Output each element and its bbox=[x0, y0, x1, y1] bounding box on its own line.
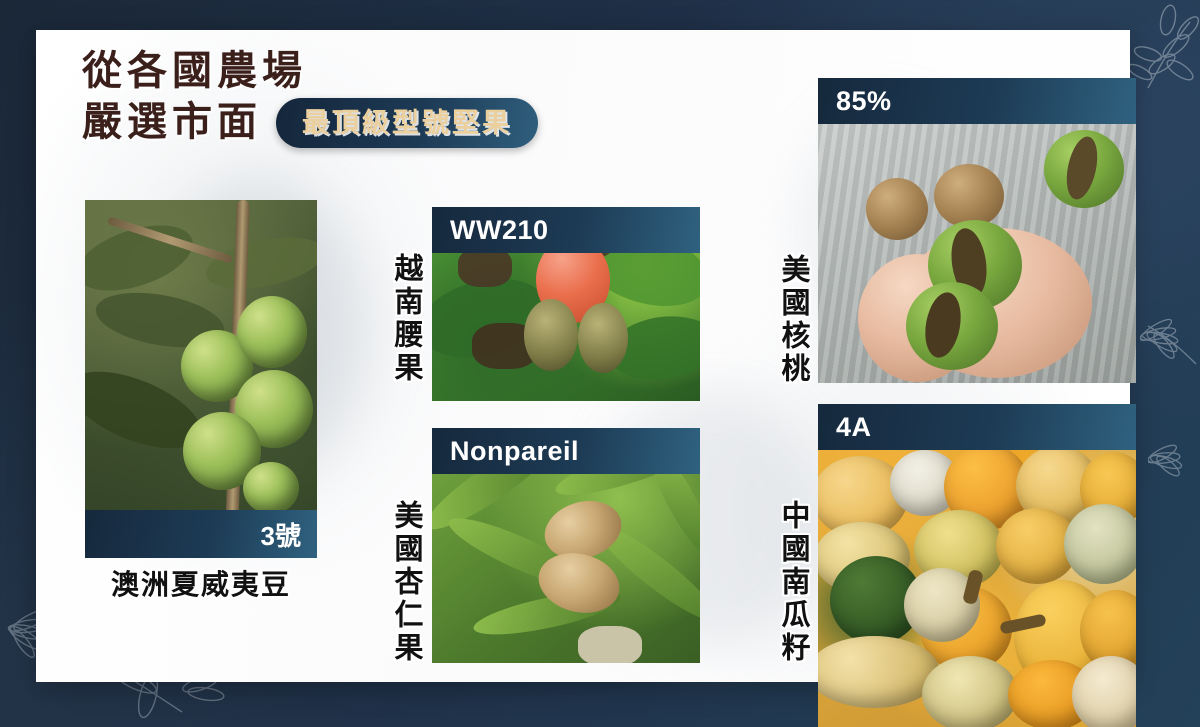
card-walnut-grade: 85% bbox=[836, 86, 892, 117]
card-walnut-caption: 美國核桃 bbox=[772, 254, 814, 386]
headline-line-1: 從各國農場 bbox=[82, 46, 642, 97]
card-almond-photo: Nonpareil bbox=[432, 428, 700, 663]
card-walnut-grade-bar: 85% bbox=[818, 78, 1136, 124]
card-cashew-caption: 越南腰果 bbox=[385, 253, 427, 385]
card-almond-grade-bar: Nonpareil bbox=[432, 428, 700, 474]
card-macadamia-grade: 3號 bbox=[261, 516, 301, 553]
card-macadamia-photo: 3號 bbox=[85, 200, 317, 558]
card-macadamia-grade-bar: 3號 bbox=[85, 510, 317, 558]
headline-line-2-text: 嚴選市面 bbox=[82, 97, 262, 148]
card-cashew-photo: WW210 bbox=[432, 207, 700, 401]
card-pumpkin-seed-caption: 中國南瓜籽 bbox=[772, 500, 814, 665]
headline-line-1-text: 從各國農場 bbox=[82, 46, 307, 97]
headline-block: 從各國農場 嚴選市面 最頂級型號堅果 bbox=[82, 46, 642, 148]
card-almond-grade: Nonpareil bbox=[450, 436, 579, 467]
headline-badge: 最頂級型號堅果 bbox=[276, 98, 538, 148]
card-walnut-photo: 85% bbox=[818, 78, 1136, 383]
card-almond-caption: 美國杏仁果 bbox=[385, 500, 427, 665]
card-pumpkin-seed-grade: 4A bbox=[836, 412, 872, 443]
card-cashew-grade: WW210 bbox=[450, 215, 549, 246]
card-macadamia-caption: 澳洲夏威夷豆 bbox=[85, 563, 317, 603]
headline-line-2: 嚴選市面 最頂級型號堅果 bbox=[82, 97, 642, 148]
card-pumpkin-seed-grade-bar: 4A bbox=[818, 404, 1136, 450]
card-pumpkin-seed-photo: 4A bbox=[818, 404, 1136, 727]
card-cashew-grade-bar: WW210 bbox=[432, 207, 700, 253]
